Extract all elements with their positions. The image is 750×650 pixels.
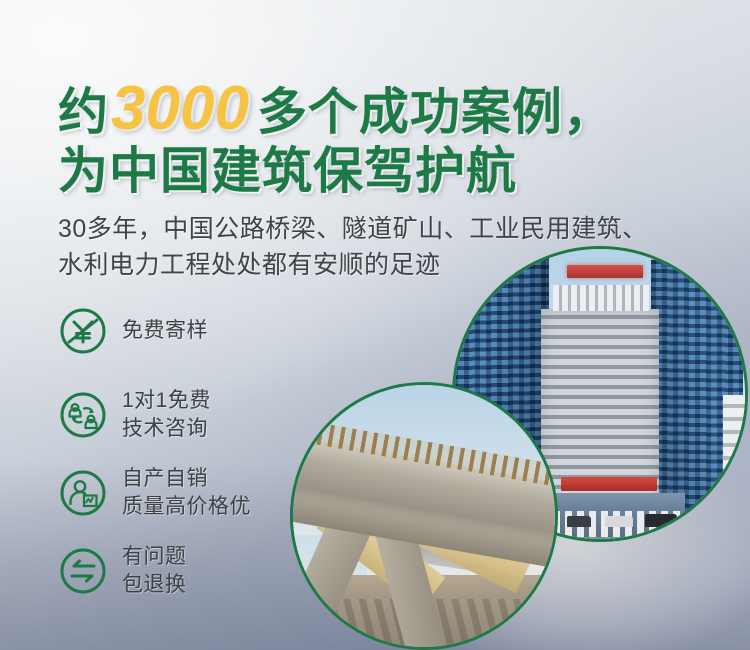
tower-center-crown <box>553 285 649 311</box>
subtitle: 30多年，中国公路桥梁、隧道矿山、工业民用建筑、 水利电力工程处处都有安顺的足迹 <box>58 212 718 283</box>
feature-text: 1对1免费 技术咨询 <box>122 387 211 442</box>
headline-prefix: 约 <box>58 87 109 137</box>
feature-item-free-sample: 免费寄样 <box>58 300 251 362</box>
one-on-one-consult-icon <box>58 390 108 440</box>
feature-text: 免费寄样 <box>122 317 208 345</box>
subtitle-line-2: 水利电力工程处处都有安顺的足迹 <box>58 248 718 284</box>
feature-line-1: 自产自销 <box>122 465 251 493</box>
feature-line-1: 有问题 <box>122 543 187 571</box>
feature-line-1: 免费寄样 <box>122 319 208 342</box>
side-building-white <box>723 395 748 542</box>
self-production-quality-icon <box>58 468 108 518</box>
banner-stage: 约 3000 多个成功案例， 为中国建筑保驾护航 30多年，中国公路桥梁、隧道矿… <box>0 0 750 650</box>
feature-list: 免费寄样 1对1免费 技术咨询 <box>58 300 251 618</box>
entrance-sign <box>561 477 657 491</box>
feature-item-self-production: 自产自销 质量高价格优 <box>58 462 251 524</box>
subtitle-line-1: 30多年，中国公路桥梁、隧道矿山、工业民用建筑、 <box>58 212 718 248</box>
feature-line-2: 技术咨询 <box>122 415 211 443</box>
feature-text: 自产自销 质量高价格优 <box>122 465 251 520</box>
headline-suffix: 多个成功案例， <box>257 87 614 137</box>
bridge-viaduct-photo <box>290 382 558 650</box>
parked-van <box>645 514 677 527</box>
return-exchange-icon <box>58 546 108 596</box>
no-fee-yuan-icon <box>58 306 108 356</box>
feature-line-2: 包退换 <box>122 571 187 599</box>
feature-line-1: 1对1免费 <box>122 387 211 415</box>
feature-line-2: 质量高价格优 <box>122 493 251 521</box>
parked-car <box>567 516 591 527</box>
feature-item-consultation: 1对1免费 技术咨询 <box>58 384 251 446</box>
headline-line-1: 约 3000 多个成功案例， <box>58 78 614 140</box>
headline-line-2: 为中国建筑保驾护航 <box>58 146 517 196</box>
headline-line2-text: 为中国建筑保驾护航 <box>58 143 517 199</box>
parked-car <box>605 516 633 527</box>
feature-text: 有问题 包退换 <box>122 543 187 598</box>
feature-item-return-exchange: 有问题 包退换 <box>58 540 251 602</box>
headline-number: 3000 <box>111 78 249 140</box>
